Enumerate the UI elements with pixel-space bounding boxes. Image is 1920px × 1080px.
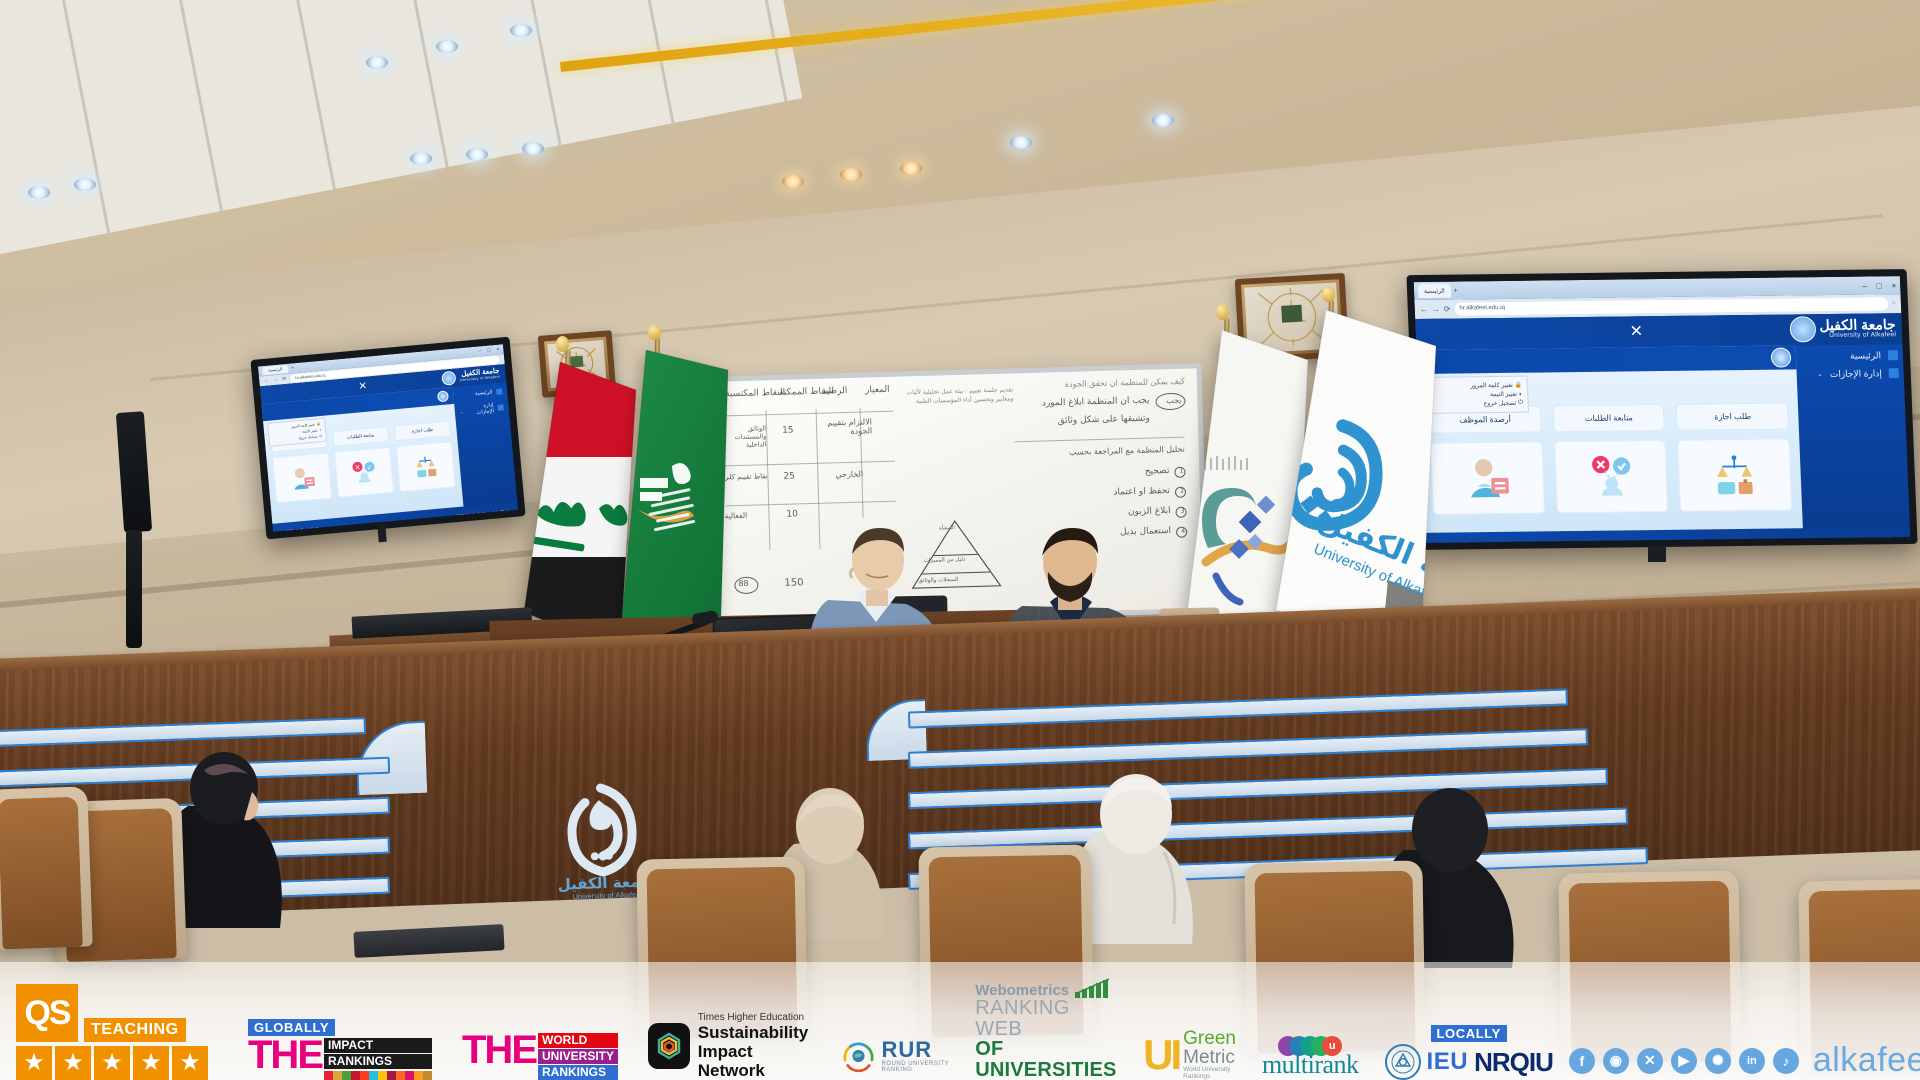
card-track-requests-label[interactable]: متابعة الطلبات <box>1552 403 1665 431</box>
reload-icon[interactable]: ⟳ <box>282 376 287 382</box>
sustainability-line2: Impact Network <box>698 1042 813 1080</box>
seat-cushion <box>0 797 83 950</box>
wb-note-yajib: يجب <box>1166 396 1181 405</box>
x-twitter-icon[interactable]: ✕ <box>1637 1048 1663 1074</box>
lock-icon: 🔒 <box>317 422 322 426</box>
instagram-icon[interactable]: ◉ <box>1603 1048 1629 1074</box>
sidebar-item-leave-management[interactable]: إدارة الإجازات ⌄ <box>459 402 504 418</box>
app-main-right: 🔒 تغيير كلمة المرور ◐ تغيير الثيمة ⏻ تسج… <box>1416 345 1803 532</box>
home-icon <box>496 389 503 396</box>
tiktok-icon[interactable]: ♪ <box>1773 1048 1799 1074</box>
qs-star: ★ <box>55 1046 91 1080</box>
footer-banner: QS TEACHING ★ ★ ★ ★ ★ GLOBALLY THE IMPAC… <box>0 962 1920 1080</box>
webometrics-line2: RANKING WEB <box>975 998 1117 1039</box>
downlight <box>1010 136 1032 149</box>
chevron-down-icon[interactable]: ⌄ <box>460 409 464 414</box>
card-leave-request[interactable] <box>1678 438 1793 511</box>
linkedin-icon[interactable]: in <box>1739 1048 1765 1074</box>
youtube-icon[interactable]: ▶ <box>1671 1048 1697 1074</box>
wb-number: 150 <box>784 577 803 589</box>
app-sidebar: الرئيسية إدارة الإجازات ⌄ <box>1796 344 1910 528</box>
speaker-stand-left <box>126 530 142 648</box>
ui-metric-text: Metric <box>1183 1048 1236 1067</box>
ui-mark: UI <box>1143 1038 1179 1072</box>
leave-request-icon <box>410 453 442 482</box>
facebook-icon[interactable]: f <box>1569 1048 1595 1074</box>
wb-num: 1 <box>1179 468 1183 475</box>
leave-icon <box>1889 368 1899 378</box>
qs-star-row: ★ ★ ★ ★ ★ <box>16 1046 208 1080</box>
downlight <box>366 56 388 69</box>
wb-rule <box>1015 437 1185 443</box>
wb-note: وتشيقها على شكل وثائق <box>1057 414 1150 427</box>
employee-balance-icon <box>286 464 318 493</box>
the-impact-tag: IMPACT <box>324 1038 432 1053</box>
webometrics-line3: OF UNIVERSITIES <box>975 1039 1117 1080</box>
the-rankings-tag: RANKINGS <box>324 1054 432 1069</box>
qs-star: ★ <box>16 1046 52 1080</box>
downlight <box>74 178 96 191</box>
sustainability-small-text: Times Higher Education <box>698 1012 813 1023</box>
downlight <box>510 24 532 37</box>
rur-sub: ROUND UNIVERSITY RANKING <box>882 1061 950 1073</box>
window-controls[interactable]: – □ × <box>479 347 500 355</box>
downlight <box>900 162 922 175</box>
the-university-tag: UNIVERSITY <box>538 1049 618 1064</box>
theme-icon: ◐ <box>1519 391 1523 397</box>
sidebar-item-label: الرئيسية <box>475 390 493 398</box>
app-sidebar: الرئيسية إدارة الإجازات ⌄ <box>453 382 518 506</box>
tv-stand-right <box>1648 546 1666 562</box>
the-wordmark: THE <box>248 1038 322 1080</box>
the-world-university-rankings-logo: THE WORLD UNIVERSITY RANKINGS <box>462 1033 618 1080</box>
card-leave-request-label[interactable]: طلب اجازة <box>394 420 451 441</box>
maximize-icon[interactable]: □ <box>487 347 491 353</box>
app-brand: جامعة الكفيل University of Alkafeel <box>441 367 500 386</box>
social-handle[interactable]: alkafeeleduiq <box>1813 1041 1920 1080</box>
app-brand: جامعة الكفيل University of Alkafeel <box>1789 315 1896 342</box>
chevron-down-icon[interactable]: ⌄ <box>1817 370 1823 378</box>
dribbble-icon[interactable]: ✺ <box>1705 1048 1731 1074</box>
maximize-icon[interactable]: □ <box>1877 281 1882 290</box>
leave-icon <box>497 405 504 412</box>
rur-name: RUR <box>882 1039 950 1061</box>
app-close-icon[interactable]: ✕ <box>358 380 367 392</box>
wb-note: كيف يمكن للمنظمة ان تحقق الجودة <box>1065 377 1185 389</box>
webometrics-logo: Webometrics RANKING WEB OF UNIVERSITIES <box>975 978 1117 1080</box>
wb-cell: 15 <box>782 425 794 435</box>
qs-teaching-tag: TEACHING <box>84 1018 186 1042</box>
minimize-icon[interactable]: – <box>1862 281 1867 290</box>
downlight <box>782 175 804 188</box>
minimize-icon[interactable]: – <box>479 348 482 354</box>
downlight <box>1152 114 1174 127</box>
social-links: f ◉ ✕ ▶ ✺ in ♪ alkafeeleduiq <box>1569 1041 1920 1080</box>
wb-mid-note: تقديم جلسة تقييم - بيئة عمل تحليلية لألي… <box>903 385 1013 406</box>
local-rankings-logo: LOCALLY IEU NRQIU <box>1385 1025 1553 1080</box>
downlight <box>436 40 458 53</box>
app-body-right: الرئيسية إدارة الإجازات ⌄ 🔒 <box>1416 344 1909 532</box>
tablet-in-hand <box>353 924 504 958</box>
display-screen-left-content: الرئيسية + – □ × ← → ⟳ hr.alkafeel.edu.i… <box>258 344 518 532</box>
logout-icon: ⏻ <box>1518 400 1523 407</box>
flag-finial <box>648 324 661 340</box>
multirank-wordmark: multirank <box>1262 1050 1359 1080</box>
wb-header-4: المعيار <box>865 385 890 396</box>
ieu-seal-icon <box>1385 1044 1421 1080</box>
theme-icon: ◐ <box>319 428 321 432</box>
flag-finial <box>1216 304 1229 320</box>
card-icons-row <box>1430 438 1792 514</box>
sidebar-item-label: الرئيسية <box>1850 350 1881 361</box>
u-multirank-logo: u multirank <box>1262 1036 1359 1080</box>
sidebar-item-label: إدارة الإجازات <box>1830 368 1882 380</box>
rur-logo: RUR ROUND UNIVERSITY RANKING <box>841 1032 950 1080</box>
window-controls[interactable]: – □ × <box>1862 281 1896 290</box>
card-employee-balance[interactable] <box>272 453 332 504</box>
wb-note: يجب ان المنظمة ابلاغ المورد <box>1042 396 1150 409</box>
svg-text:✓: ✓ <box>366 465 372 473</box>
wb-cell: الالتزام بتقييم الجودة <box>820 417 872 436</box>
app-topbar <box>1416 345 1796 373</box>
webometrics-chart-icon <box>1073 978 1117 998</box>
downlight <box>522 142 544 155</box>
nrqiu-text: NRQIU <box>1474 1047 1553 1078</box>
avatar[interactable] <box>437 390 449 402</box>
the-wordmark: THE <box>462 1033 536 1080</box>
lock-icon: 🔒 <box>1515 382 1523 389</box>
qs-star: ★ <box>94 1046 130 1080</box>
browser-tab[interactable]: الرئيسية <box>1418 283 1451 298</box>
wb-item: تحفظ او اعتماد <box>1113 486 1170 498</box>
sustainability-line1: Sustainability <box>698 1023 813 1042</box>
university-seal-icon <box>1789 316 1816 342</box>
leave-request-icon <box>1708 451 1762 498</box>
downlight <box>410 152 432 165</box>
forward-icon[interactable]: → <box>273 377 279 383</box>
sustainability-impact-network-logo: Times Higher Education Sustainability Im… <box>648 1012 813 1080</box>
card-icons-row: ✕ ✓ <box>272 441 455 503</box>
app-footer-right-text: 2025 © مركز الكفيل لتقنية المعلومات <box>457 509 514 518</box>
card-track-requests-label[interactable]: متابعة الطلبات <box>332 426 389 447</box>
sidebar-item-home[interactable]: الرئيسية <box>1801 350 1898 362</box>
rur-globe-icon <box>841 1032 876 1080</box>
sustainability-hex-icon <box>648 1023 690 1069</box>
display-screen-left[interactable]: الرئيسية + – □ × ← → ⟳ hr.alkafeel.edu.i… <box>250 337 525 540</box>
wb-header-3: الرصيد <box>822 386 848 397</box>
app-main-left: 🔒 تغيير كلمة المرور ◐ تغيير الثيمة ⏻ تسج… <box>261 387 463 523</box>
sidebar-item-home[interactable]: الرئيسية <box>458 389 502 399</box>
screenshot-root: الرئيسية + – □ × ← → ⟳ hr.alkafeel.edu.i… <box>0 0 1920 1080</box>
the-world-tag: WORLD <box>538 1033 618 1048</box>
app-body-left: الرئيسية إدارة الإجازات ⌄ 🔒 <box>261 382 517 523</box>
card-track-requests[interactable] <box>1554 439 1669 512</box>
qs-stars-logo: QS TEACHING ★ ★ ★ ★ ★ <box>16 984 208 1080</box>
qs-star: ★ <box>133 1046 169 1080</box>
avatar[interactable] <box>1771 347 1792 367</box>
sdg-color-bars <box>324 1071 432 1080</box>
logout-icon: ⏻ <box>319 434 322 438</box>
university-seal-icon <box>441 371 456 386</box>
track-requests-icon: ✕ ✓ <box>348 458 380 487</box>
card-leave-request[interactable] <box>396 441 456 492</box>
app-header-right: ✕ جامعة الكفيل University of Alkafeel <box>1415 313 1902 350</box>
app-footer-left-text: نظام الصبر للإدارة الإلكترونية <box>278 526 321 532</box>
bookmark-star-icon[interactable]: ☆ <box>1891 301 1896 307</box>
downlight <box>28 186 50 199</box>
flag-finial <box>1322 286 1335 302</box>
new-tab-button[interactable]: + <box>291 365 294 371</box>
downlight <box>840 168 862 181</box>
wb-cell: 10 <box>786 509 798 519</box>
sidebar-item-label: إدارة الإجازات <box>467 402 495 416</box>
display-screen-right-content: الرئيسية + – □ × ← → ⟳ hr.alkafeel.edu.i… <box>1414 276 1911 543</box>
display-screen-right[interactable]: الرئيسية + – □ × ← → ⟳ hr.alkafeel.edu.i… <box>1406 269 1917 550</box>
ui-green-text: Green <box>1183 1029 1236 1048</box>
track-requests-icon <box>1584 453 1638 500</box>
card-track-requests[interactable]: ✕ ✓ <box>334 447 394 498</box>
card-leave-request-label[interactable]: طلب اجازة <box>1676 402 1789 430</box>
the-impact-rankings-logo: GLOBALLY THE IMPACT RANKINGS <box>248 1019 432 1080</box>
seat <box>0 786 93 949</box>
new-tab-button[interactable]: + <box>1454 287 1458 294</box>
ui-greenmetric-logo: UI Green Metric World University Ranking… <box>1143 1029 1236 1080</box>
ui-sub-text: World University Rankings <box>1183 1067 1236 1080</box>
wb-note: تحليل المنظمة مع المراجعة بحسب <box>1069 445 1185 457</box>
qs-star: ★ <box>172 1046 208 1080</box>
wb-cell: الخارجي <box>835 470 863 480</box>
flag-finial <box>556 336 569 352</box>
home-icon <box>1888 350 1898 360</box>
wb-item: تصحيح <box>1145 466 1170 477</box>
close-icon[interactable]: × <box>496 347 499 353</box>
ieu-text: IEU <box>1427 1048 1469 1076</box>
sidebar-item-leave-management[interactable]: إدارة الإجازات ⌄ <box>1802 368 1899 380</box>
the-rankings-tag: RANKINGS <box>538 1065 618 1080</box>
locally-badge: LOCALLY <box>1431 1025 1507 1042</box>
svg-text:✕: ✕ <box>354 465 360 473</box>
tv-stand-left <box>377 524 387 543</box>
app-close-icon[interactable]: ✕ <box>1629 321 1643 341</box>
back-icon[interactable]: ← <box>264 377 270 383</box>
qs-mark: QS <box>16 984 78 1042</box>
app-brand-en: University of Alkafeel <box>1820 332 1897 340</box>
downlight <box>466 148 488 161</box>
webometrics-name: Webometrics <box>975 983 1069 998</box>
wb-cell: 25 <box>783 471 795 481</box>
app-footer-right-text: 2025 © مركز الكفيل لتقنية المعلومات <box>1819 537 1906 543</box>
close-icon[interactable]: × <box>1891 281 1896 290</box>
employee-balance-icon <box>1461 454 1515 501</box>
